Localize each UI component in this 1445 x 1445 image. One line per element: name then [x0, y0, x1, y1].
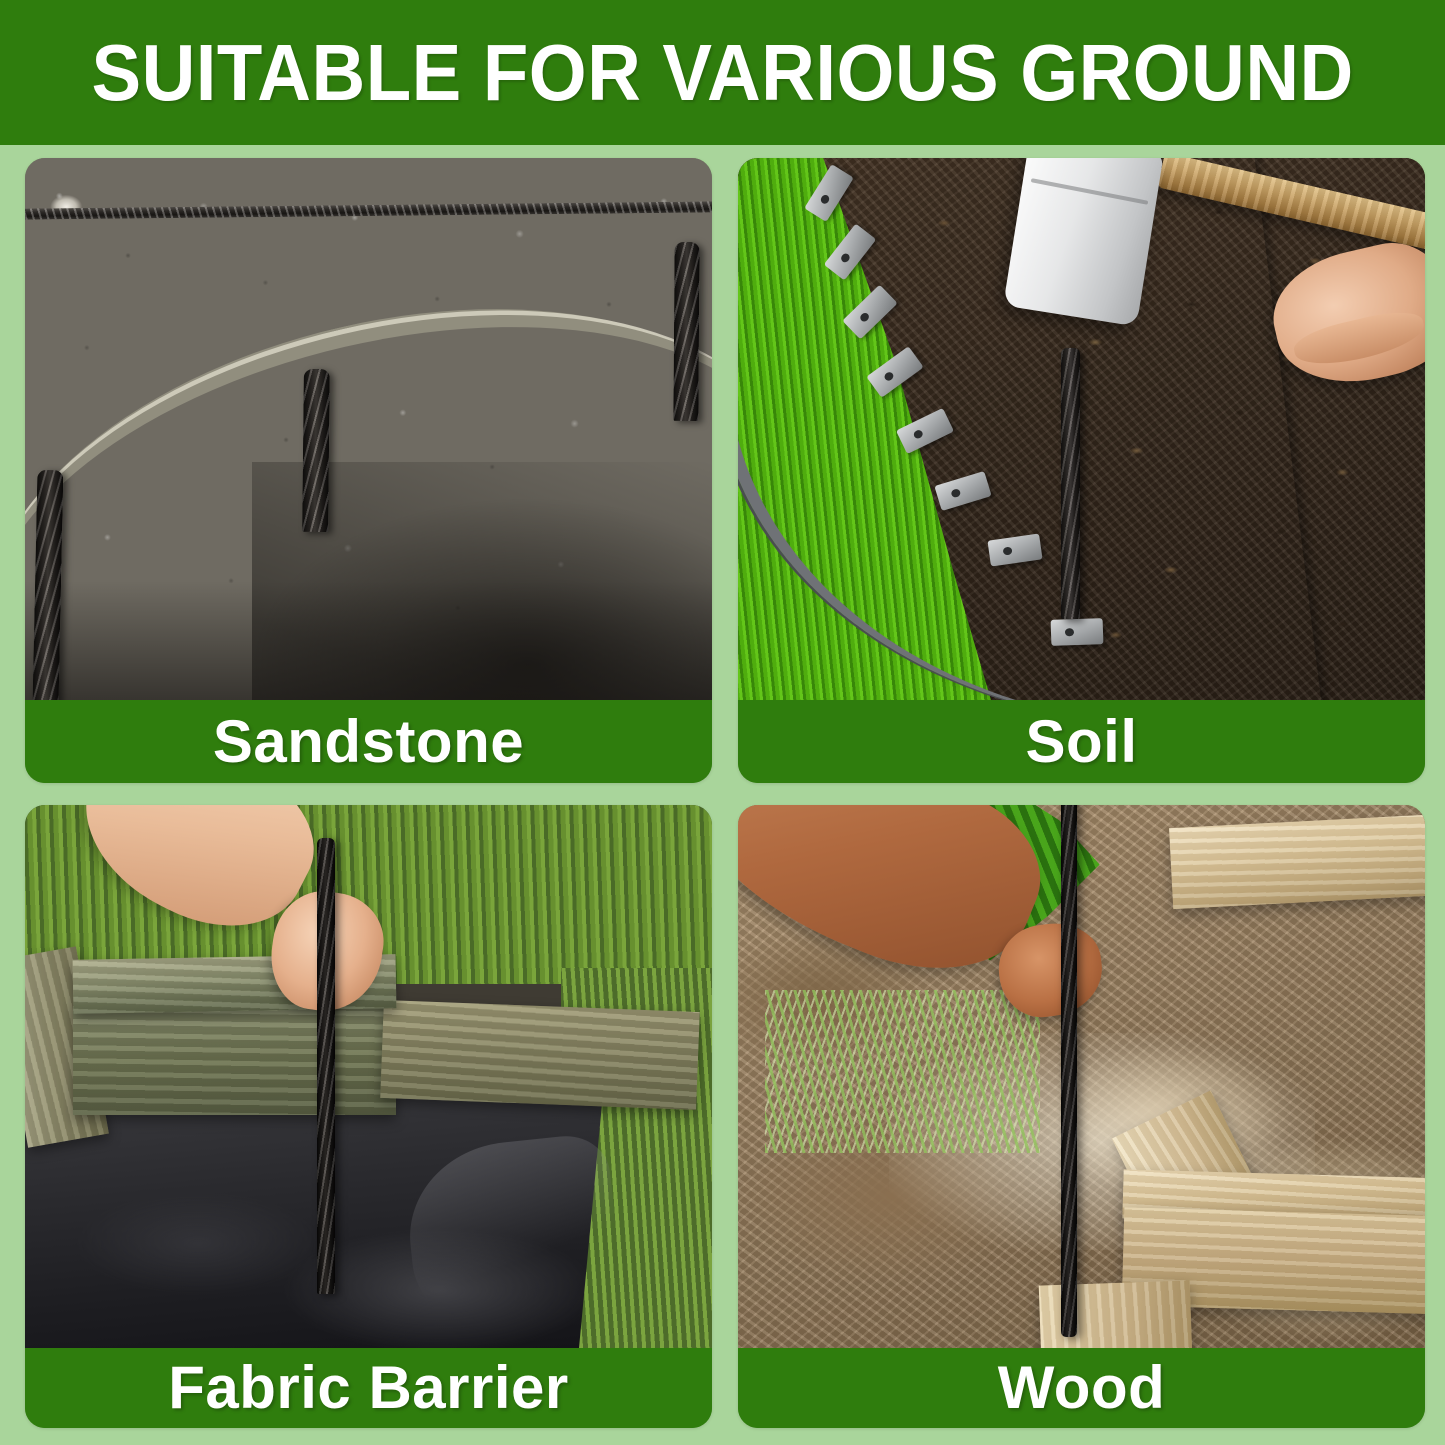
card-wood[interactable]: Wood [738, 805, 1425, 1428]
card-soil[interactable]: Soil [738, 158, 1425, 783]
rebar-stake-icon [302, 369, 330, 532]
rebar-stake-icon [674, 242, 700, 421]
edging-tab [1050, 618, 1103, 646]
card-label: Fabric Barrier [168, 1358, 569, 1418]
photo-soil [738, 158, 1425, 700]
card-sandstone[interactable]: Sandstone [25, 158, 712, 783]
card-label: Wood [998, 1358, 1166, 1418]
label-bar-soil: Soil [738, 700, 1425, 783]
card-label: Sandstone [213, 712, 524, 772]
label-bar-sandstone: Sandstone [25, 700, 712, 783]
card-fabric-barrier[interactable]: Fabric Barrier [25, 805, 712, 1428]
label-bar-wood: Wood [738, 1348, 1425, 1428]
ground-types-grid: Sandstone Soil [25, 158, 1425, 1428]
page-title: SUITABLE FOR VARIOUS GROUND [91, 33, 1353, 113]
photo-sandstone [25, 158, 712, 700]
wood-board [1169, 814, 1425, 910]
label-bar-fabric-barrier: Fabric Barrier [25, 1348, 712, 1428]
card-label: Soil [1025, 712, 1137, 772]
weed-texture [765, 990, 1040, 1153]
wood-timber [380, 1000, 700, 1110]
rebar-stake-icon [33, 469, 64, 700]
rubber-mallet-icon [1003, 158, 1164, 326]
wood-timber [73, 1006, 396, 1115]
rebar-stake-icon [317, 838, 335, 1294]
header-banner: SUITABLE FOR VARIOUS GROUND [0, 0, 1445, 145]
rebar-stake-icon [1061, 805, 1077, 1337]
photo-fabric-barrier [25, 805, 712, 1348]
rebar-stake-icon [1061, 348, 1080, 619]
photo-wood [738, 805, 1425, 1348]
